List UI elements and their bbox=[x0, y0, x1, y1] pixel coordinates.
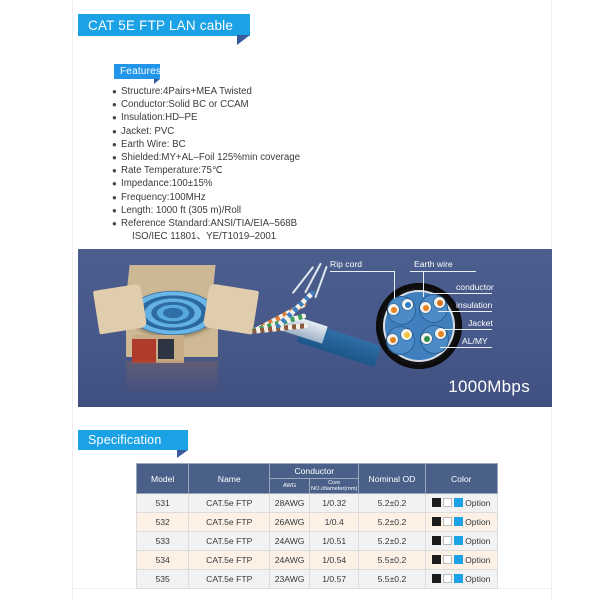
list-item: ● Length: 1000 ft (305 m)/Roll bbox=[112, 204, 492, 217]
leader-line-al-my bbox=[440, 347, 492, 348]
cell-awg: 26AWG bbox=[270, 513, 310, 532]
col-header-conductor: Conductor bbox=[270, 464, 359, 479]
cell-awg: 23AWG bbox=[270, 570, 310, 589]
swatch-blue-icon bbox=[454, 574, 463, 583]
feature-text: Shielded:MY+AL–Foil 125%min coverage bbox=[121, 151, 300, 164]
cell-nominal-od: 5.2±0.2 bbox=[359, 532, 425, 551]
option-label: Option bbox=[465, 555, 490, 565]
bullet-icon: ● bbox=[112, 191, 121, 204]
swatch-blue-icon bbox=[454, 498, 463, 507]
stripped-cable-image bbox=[246, 275, 376, 385]
list-item: ● Reference Standard:ANSI/TIA/EIA–568B bbox=[112, 217, 492, 230]
banner-fold-icon bbox=[154, 79, 160, 84]
cell-model: 534 bbox=[137, 551, 189, 570]
cell-core: 1/0.57 bbox=[310, 570, 359, 589]
cell-model: 533 bbox=[137, 532, 189, 551]
bullet-icon: ● bbox=[112, 138, 121, 151]
cell-color: Option bbox=[425, 570, 497, 589]
table-row: 532 CAT.5e FTP 26AWG 1/0.4 5.2±0.2 Optio… bbox=[137, 513, 498, 532]
col-header-name: Name bbox=[189, 464, 270, 494]
features-banner: Features bbox=[114, 64, 160, 79]
col-header-model: Model bbox=[137, 464, 189, 494]
page-title-banner: CAT 5E FTP LAN cable bbox=[78, 14, 250, 36]
cell-model: 532 bbox=[137, 513, 189, 532]
swatch-black-icon bbox=[432, 517, 441, 526]
bullet-icon: ● bbox=[112, 151, 121, 164]
list-item: ● Jacket: PVC bbox=[112, 125, 492, 138]
cell-awg: 28AWG bbox=[270, 494, 310, 513]
box-label-red bbox=[132, 339, 156, 363]
product-photo-panel: Rip cord Earth wire conductor insulation… bbox=[78, 249, 552, 407]
cell-color: Option bbox=[425, 513, 497, 532]
box-reflection bbox=[126, 361, 218, 395]
option-label: Option bbox=[465, 536, 490, 546]
bullet-icon: ● bbox=[112, 177, 121, 190]
features-list: ● Structure:4Pairs+MEA Twisted ● Conduct… bbox=[112, 85, 492, 243]
product-spec-sheet: CAT 5E FTP LAN cable Features ● Structur… bbox=[0, 0, 600, 600]
page-rail-left bbox=[72, 0, 73, 600]
swatch-black-icon bbox=[432, 498, 441, 507]
conductor-dot bbox=[402, 299, 413, 310]
leader-line-earth-wire bbox=[410, 271, 476, 272]
feature-text: Earth Wire: BC bbox=[121, 138, 186, 151]
cell-name: CAT.5e FTP bbox=[189, 570, 270, 589]
col-header-nominal-od: Nominal OD bbox=[359, 464, 425, 494]
callout-rip-cord: Rip cord bbox=[330, 259, 362, 269]
swatch-white-icon bbox=[443, 555, 452, 564]
feature-text: Jacket: PVC bbox=[121, 125, 174, 138]
option-label: Option bbox=[465, 574, 490, 584]
feature-text: Impedance:100±15% bbox=[121, 177, 213, 190]
features-banner-label: Features bbox=[120, 66, 161, 77]
table-row: 533 CAT.5e FTP 24AWG 1/0.51 5.2±0.2 Opti… bbox=[137, 532, 498, 551]
conductor-dot bbox=[420, 302, 431, 313]
bullet-icon: ● bbox=[112, 98, 121, 111]
table-row: 531 CAT.5e FTP 28AWG 1/0.32 5.2±0.2 Opti… bbox=[137, 494, 498, 513]
feature-text: Length: 1000 ft (305 m)/Roll bbox=[121, 204, 241, 217]
swatch-black-icon bbox=[432, 555, 441, 564]
conductor-dot bbox=[421, 333, 432, 344]
bullet-icon: ● bbox=[112, 217, 121, 230]
cell-nominal-od: 5.5±0.2 bbox=[359, 570, 425, 589]
feature-text: Rate Temperature:75℃ bbox=[121, 164, 223, 177]
col-header-color: Color bbox=[425, 464, 497, 494]
table-body: 531 CAT.5e FTP 28AWG 1/0.32 5.2±0.2 Opti… bbox=[137, 494, 498, 589]
specification-table: Model Name Conductor Nominal OD Color AW… bbox=[136, 463, 498, 589]
conductor-dot bbox=[388, 304, 399, 315]
box-flap-left bbox=[93, 284, 147, 335]
swatch-white-icon bbox=[443, 498, 452, 507]
callout-conductor: conductor bbox=[456, 282, 494, 292]
list-item: ● Conductor:Solid BC or CCAM bbox=[112, 98, 492, 111]
callout-insulation: insulation bbox=[456, 300, 492, 310]
col-header-awg: AWG bbox=[270, 479, 310, 494]
cross-section-pair-blue bbox=[387, 296, 416, 325]
cell-name: CAT.5e FTP bbox=[189, 532, 270, 551]
banner-fold-icon bbox=[237, 35, 250, 45]
cell-color: Option bbox=[425, 494, 497, 513]
box-label-dark bbox=[158, 339, 174, 359]
feature-text: Structure:4Pairs+MEA Twisted bbox=[121, 85, 252, 98]
swatch-blue-icon bbox=[454, 555, 463, 564]
cell-name: CAT.5e FTP bbox=[189, 551, 270, 570]
bullet-icon: ● bbox=[112, 164, 121, 177]
table-header-row: Model Name Conductor Nominal OD Color bbox=[137, 464, 498, 479]
list-item: ● Frequency:100MHz bbox=[112, 191, 492, 204]
swatch-black-icon bbox=[432, 536, 441, 545]
cell-color: Option bbox=[425, 551, 497, 570]
leader-line-rip-cord-v bbox=[394, 271, 395, 299]
swatch-white-icon bbox=[443, 536, 452, 545]
list-item: ● Shielded:MY+AL–Foil 125%min coverage bbox=[112, 151, 492, 164]
feature-text: Conductor:Solid BC or CCAM bbox=[121, 98, 249, 111]
cell-name: CAT.5e FTP bbox=[189, 513, 270, 532]
list-item: ● Structure:4Pairs+MEA Twisted bbox=[112, 85, 492, 98]
option-label: Option bbox=[465, 517, 490, 527]
cell-core: 1/0.32 bbox=[310, 494, 359, 513]
feature-text: Reference Standard:ANSI/TIA/EIA–568B bbox=[121, 217, 297, 230]
swatch-blue-icon bbox=[454, 517, 463, 526]
specification-banner-label: Specification bbox=[88, 433, 161, 447]
conductor-dot bbox=[401, 329, 412, 340]
swatch-white-icon bbox=[443, 517, 452, 526]
cross-section-core bbox=[383, 290, 455, 362]
table-header: Model Name Conductor Nominal OD Color AW… bbox=[137, 464, 498, 494]
callout-al-my: AL/MY bbox=[462, 336, 488, 346]
page-title: CAT 5E FTP LAN cable bbox=[88, 18, 233, 33]
swatch-black-icon bbox=[432, 574, 441, 583]
cross-section-pair-green bbox=[386, 326, 415, 355]
feature-text: Frequency:100MHz bbox=[121, 191, 206, 204]
leader-line-earth-wire-v bbox=[423, 271, 424, 297]
specification-banner: Specification bbox=[78, 430, 188, 450]
list-item: ● Rate Temperature:75℃ bbox=[112, 164, 492, 177]
cell-awg: 24AWG bbox=[270, 551, 310, 570]
banner-fold-icon bbox=[177, 450, 188, 458]
bullet-icon: ● bbox=[112, 85, 121, 98]
cell-nominal-od: 5.2±0.2 bbox=[359, 513, 425, 532]
col-header-core-diameter: Core NO./diameter(mm) bbox=[310, 479, 359, 494]
cell-model: 535 bbox=[137, 570, 189, 589]
table-row: 534 CAT.5e FTP 24AWG 1/0.54 5.5±0.2 Opti… bbox=[137, 551, 498, 570]
cable-cross-section-diagram bbox=[376, 283, 462, 369]
leader-line-insulation bbox=[438, 311, 492, 312]
leader-line-conductor bbox=[430, 293, 492, 294]
option-label: Option bbox=[465, 498, 490, 508]
feature-continuation-text: ISO/IEC 11801、YE/T1019–2001 bbox=[112, 230, 492, 243]
cell-core: 1/0.51 bbox=[310, 532, 359, 551]
cell-nominal-od: 5.5±0.2 bbox=[359, 551, 425, 570]
speed-label: 1000Mbps bbox=[448, 377, 530, 397]
swatch-white-icon bbox=[443, 574, 452, 583]
cell-model: 531 bbox=[137, 494, 189, 513]
cross-section-pair-orange bbox=[419, 294, 448, 323]
bullet-icon: ● bbox=[112, 204, 121, 217]
conductor-dot bbox=[434, 297, 445, 308]
conductor-dot bbox=[387, 334, 398, 345]
leader-line-jacket bbox=[444, 329, 492, 330]
cell-awg: 24AWG bbox=[270, 532, 310, 551]
list-item: ● Insulation:HD–PE bbox=[112, 111, 492, 124]
feature-text: Insulation:HD–PE bbox=[121, 111, 197, 124]
cell-nominal-od: 5.2±0.2 bbox=[359, 494, 425, 513]
cell-core: 1/0.54 bbox=[310, 551, 359, 570]
table-row: 535 CAT.5e FTP 23AWG 1/0.57 5.5±0.2 Opti… bbox=[137, 570, 498, 589]
callout-jacket: Jacket bbox=[468, 318, 493, 328]
bullet-icon: ● bbox=[112, 125, 121, 138]
cell-name: CAT.5e FTP bbox=[189, 494, 270, 513]
list-item: ● Impedance:100±15% bbox=[112, 177, 492, 190]
cell-color: Option bbox=[425, 532, 497, 551]
cell-core: 1/0.4 bbox=[310, 513, 359, 532]
leader-line-rip-cord bbox=[330, 271, 394, 272]
bullet-icon: ● bbox=[112, 111, 121, 124]
list-item: ● Earth Wire: BC bbox=[112, 138, 492, 151]
callout-earth-wire: Earth wire bbox=[414, 259, 453, 269]
swatch-blue-icon bbox=[454, 536, 463, 545]
cable-box-image bbox=[96, 263, 256, 381]
